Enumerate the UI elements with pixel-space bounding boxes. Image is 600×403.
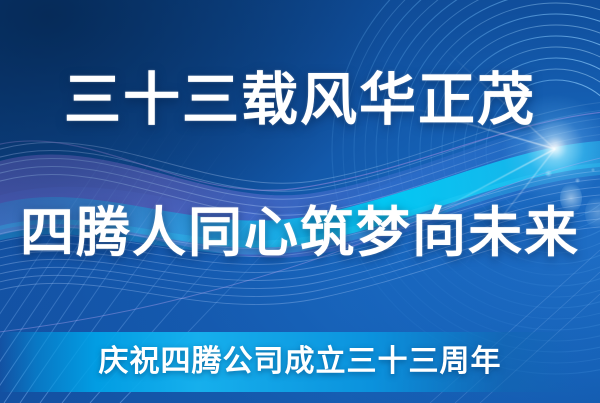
anniversary-poster: 三十三载风华正茂 四腾人同心筑梦向未来 庆祝四腾公司成立三十三周年 [0,0,600,403]
subtitle-text: 庆祝四腾公司成立三十三周年 [0,338,600,386]
poster-content: 三十三载风华正茂 四腾人同心筑梦向未来 庆祝四腾公司成立三十三周年 [0,0,600,403]
headline-line-1: 三十三载风华正茂 [0,64,600,136]
headline-line-2: 四腾人同心筑梦向未来 [0,199,600,267]
